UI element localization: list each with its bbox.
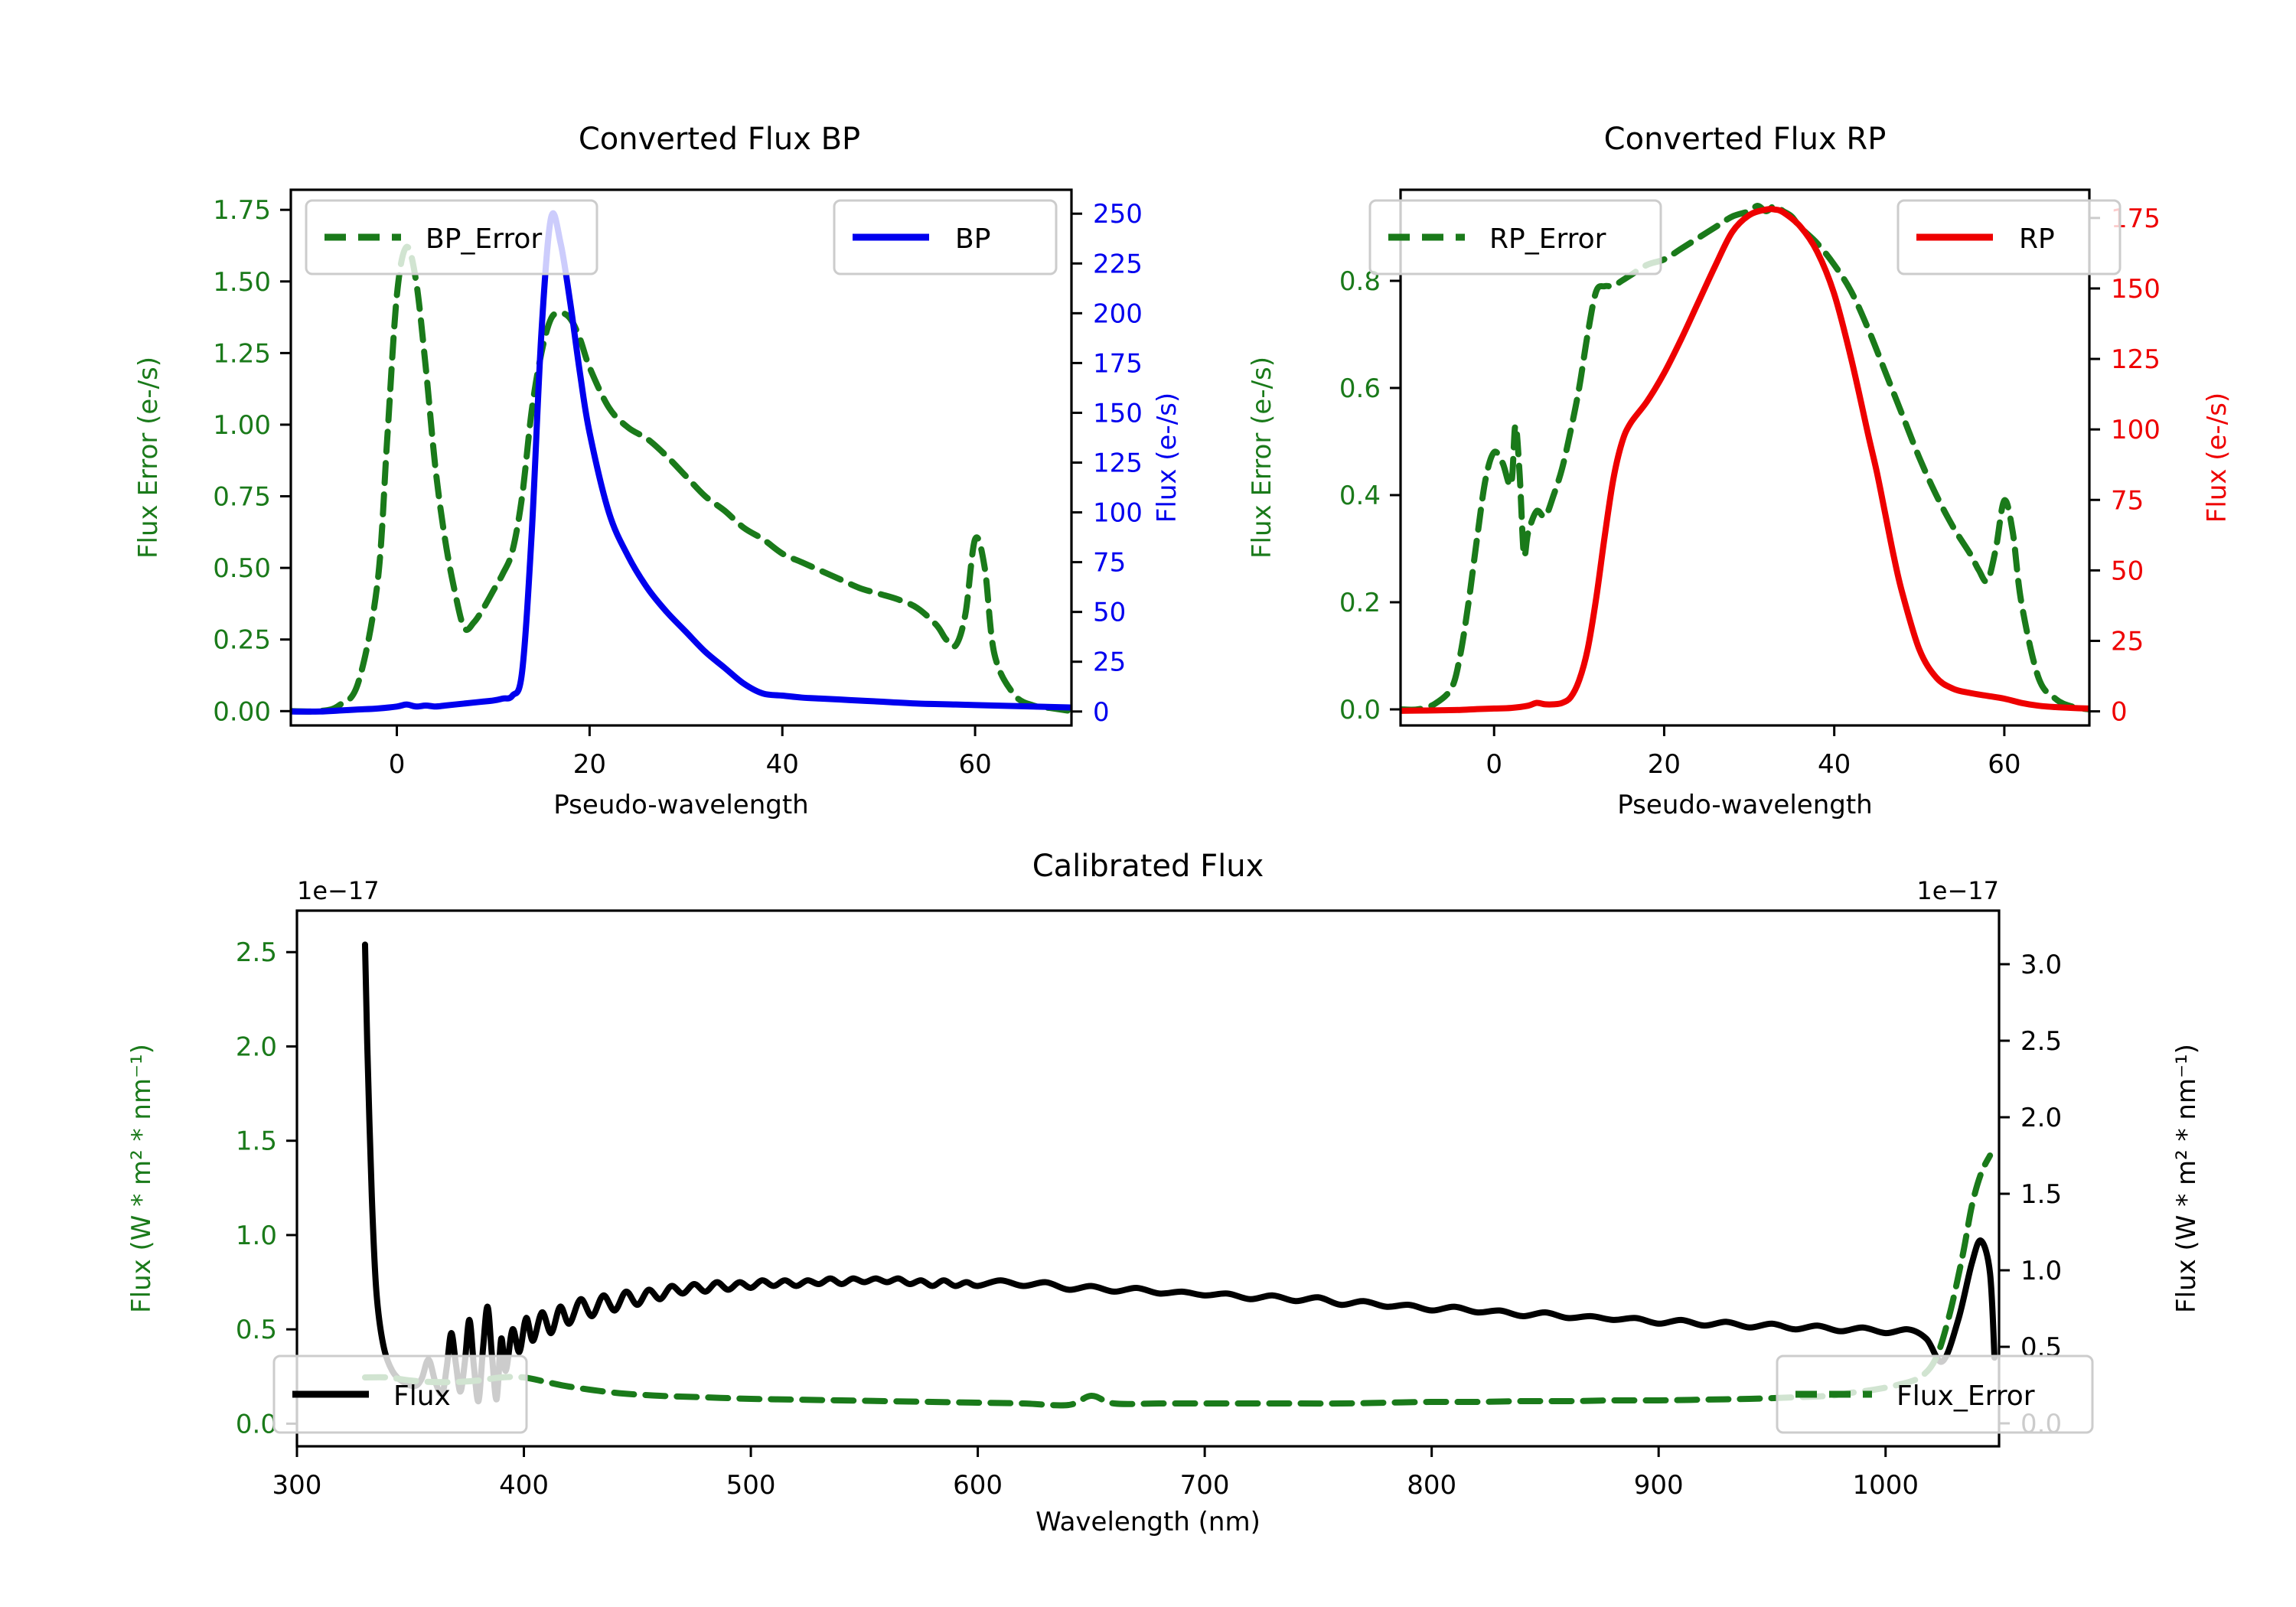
rp-plot-xtick: 0 xyxy=(1486,749,1502,780)
bp-ylabel-right: Flux (e-/s) xyxy=(1152,393,1182,523)
bp-plot-ytick-left: 1.25 xyxy=(213,338,271,369)
bp-error-legend-label: BP_Error xyxy=(426,223,542,255)
cal-plot-ytick-right: 2.5 xyxy=(2020,1026,2062,1057)
rp-legend-flux[interactable]: RP xyxy=(1898,200,2120,274)
cal-plot-ytick-left: 2.0 xyxy=(236,1032,277,1062)
bp-plot-ytick-right: 225 xyxy=(1093,249,1143,279)
bp-plot-ytick-right: 200 xyxy=(1093,298,1143,329)
rp-plot-ytick-right: 25 xyxy=(2111,626,2144,657)
bp-plot-ytick-right: 175 xyxy=(1093,348,1143,379)
bp-plot-ytick-right: 0 xyxy=(1093,697,1110,728)
bp-legend-flux[interactable]: BP xyxy=(834,200,1056,274)
rp-plot-ytick-left: 0.6 xyxy=(1339,373,1381,404)
cal-flux-legend-label: Flux xyxy=(393,1380,451,1412)
rp-plot-ytick-right: 125 xyxy=(2111,344,2161,375)
rp-plot-ytick-left: 0.2 xyxy=(1339,588,1381,618)
cal-ylabel-right: Flux (W * m² * nm⁻¹) xyxy=(2171,1044,2202,1313)
cal-plot-ytick-left: 1.5 xyxy=(236,1126,277,1157)
rp-panel-title: Converted Flux RP xyxy=(1604,122,1887,157)
bp-legend-error[interactable]: BP_Error xyxy=(306,200,597,274)
rp-plot-ytick-left: 0.0 xyxy=(1339,695,1381,725)
rp-plot-ytick-left: 0.4 xyxy=(1339,481,1381,511)
cal-plot-ytick-right: 3.0 xyxy=(2020,950,2062,980)
bp-plot-ytick-left: 0.25 xyxy=(213,625,271,656)
cal-plot-xtick: 300 xyxy=(272,1470,322,1501)
bp-plot-ytick-left: 0.00 xyxy=(213,696,271,727)
cal-plot-ytick-left: 0.5 xyxy=(236,1315,277,1345)
bp-plot-ytick-right: 125 xyxy=(1093,448,1143,479)
bp-ylabel-left: Flux Error (e-/s) xyxy=(133,357,164,559)
bp-plot-ytick-left: 1.50 xyxy=(213,267,271,298)
bp-plot-ytick-right: 100 xyxy=(1093,498,1143,529)
bp-plot-xtick: 20 xyxy=(573,749,606,780)
rp-plot-xtick: 40 xyxy=(1818,749,1851,780)
cal-xlabel: Wavelength (nm) xyxy=(1035,1507,1261,1537)
cal-plot-xtick: 400 xyxy=(499,1470,549,1501)
bp-panel-title: Converted Flux BP xyxy=(579,122,860,157)
bp-plot-ytick-right: 50 xyxy=(1093,598,1126,628)
bp-plot-xtick: 0 xyxy=(389,749,406,780)
cal-offset-right: 1e−17 xyxy=(1916,876,1999,905)
cal-plot-xtick: 900 xyxy=(1634,1470,1684,1501)
bp-plot-ytick-left: 1.75 xyxy=(213,195,271,226)
cal-plot-ytick-left: 1.0 xyxy=(236,1221,277,1251)
cal-ylabel-left: Flux (W * m² * nm⁻¹) xyxy=(126,1044,157,1313)
bp-plot-ytick-left: 0.50 xyxy=(213,553,271,584)
cal-plot-xtick: 500 xyxy=(726,1470,776,1501)
cal-plot-xtick: 800 xyxy=(1407,1470,1456,1501)
rp-plot-ytick-right: 100 xyxy=(2111,415,2161,445)
bp-plot-ytick-right: 75 xyxy=(1093,548,1126,579)
cal-legend-flux[interactable]: Flux xyxy=(274,1356,527,1433)
rp-xlabel: Pseudo-wavelength xyxy=(1617,790,1872,820)
bp-plot-ytick-right: 250 xyxy=(1093,199,1143,230)
bp-legend-label: BP xyxy=(955,223,990,255)
cal-plot-xtick: 700 xyxy=(1180,1470,1230,1501)
cal-plot-ytick-right: 1.5 xyxy=(2020,1179,2062,1210)
bp-plot-ytick-left: 0.75 xyxy=(213,482,271,513)
bp-plot-xtick: 60 xyxy=(958,749,991,780)
cal-plot-ytick-left: 2.5 xyxy=(236,937,277,968)
bp-plot-ytick-left: 1.00 xyxy=(213,410,271,441)
rp-plot-xtick: 20 xyxy=(1648,749,1681,780)
cal-plot-ytick-right: 2.0 xyxy=(2020,1103,2062,1133)
bp-plot-xtick: 40 xyxy=(766,749,799,780)
rp-plot-xtick: 60 xyxy=(1988,749,2020,780)
cal-panel-title: Calibrated Flux xyxy=(1032,849,1264,884)
rp-legend-error[interactable]: RP_Error xyxy=(1370,200,1661,274)
cal-plot-ytick-right: 1.0 xyxy=(2020,1256,2062,1286)
cal-plot-xtick: 1000 xyxy=(1852,1470,1919,1501)
cal-error-legend-label: Flux_Error xyxy=(1896,1380,2035,1412)
rp-plot-ytick-right: 75 xyxy=(2111,485,2144,516)
figure-canvas: Converted Flux BP 02040600.000.250.500.7… xyxy=(0,0,2296,1607)
bp-xlabel: Pseudo-wavelength xyxy=(553,790,808,820)
bp-plot-ytick-right: 150 xyxy=(1093,398,1143,429)
rp-plot-ytick-right: 0 xyxy=(2111,697,2128,728)
rp-ylabel-left: Flux Error (e-/s) xyxy=(1247,357,1277,559)
cal-offset-left: 1e−17 xyxy=(297,876,380,905)
bp-plot-ytick-right: 25 xyxy=(1093,647,1126,678)
rp-error-legend-label: RP_Error xyxy=(1489,223,1606,255)
rp-plot-ytick-right: 150 xyxy=(2111,274,2161,305)
cal-plot-xtick: 600 xyxy=(953,1470,1003,1501)
rp-ylabel-right: Flux (e-/s) xyxy=(2202,393,2232,523)
rp-legend-label: RP xyxy=(2019,223,2055,255)
rp-plot-ytick-right: 50 xyxy=(2111,556,2144,586)
cal-plot-ytick-left: 0.0 xyxy=(236,1409,277,1439)
cal-legend-error[interactable]: Flux_Error xyxy=(1777,1356,2092,1433)
